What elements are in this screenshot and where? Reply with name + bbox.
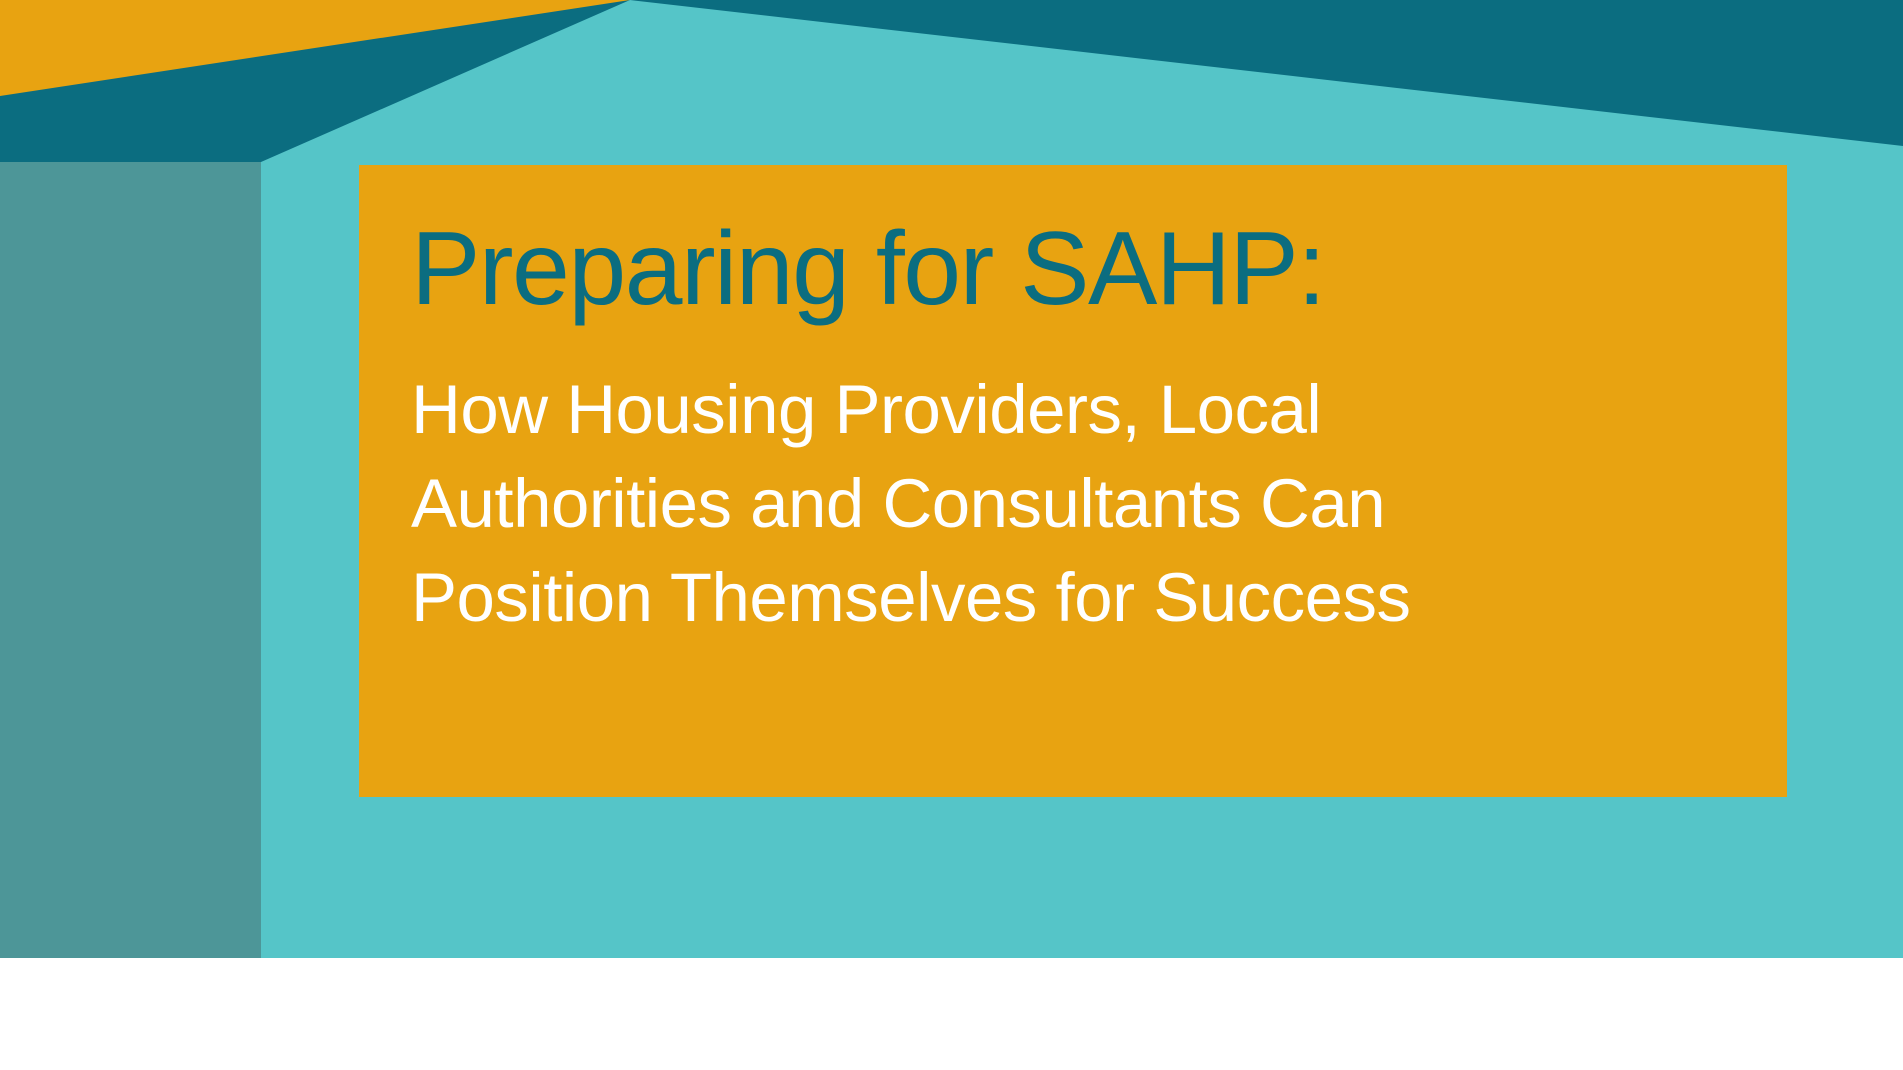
page-subtitle-line-3: Position Themselves for Success	[411, 551, 1735, 645]
title-card: Preparing for SAHP: How Housing Provider…	[359, 165, 1787, 797]
page-title: Preparing for SAHP:	[411, 211, 1735, 327]
slide: Preparing for SAHP: How Housing Provider…	[0, 0, 1903, 1070]
page-subtitle-line-2: Authorities and Consultants Can	[411, 457, 1735, 551]
page-subtitle: How Housing Providers, Local Authorities…	[411, 363, 1735, 644]
page-subtitle-line-1: How Housing Providers, Local	[411, 363, 1735, 457]
footer-whitespace	[0, 958, 1903, 1070]
left-wall-shape	[0, 162, 261, 958]
